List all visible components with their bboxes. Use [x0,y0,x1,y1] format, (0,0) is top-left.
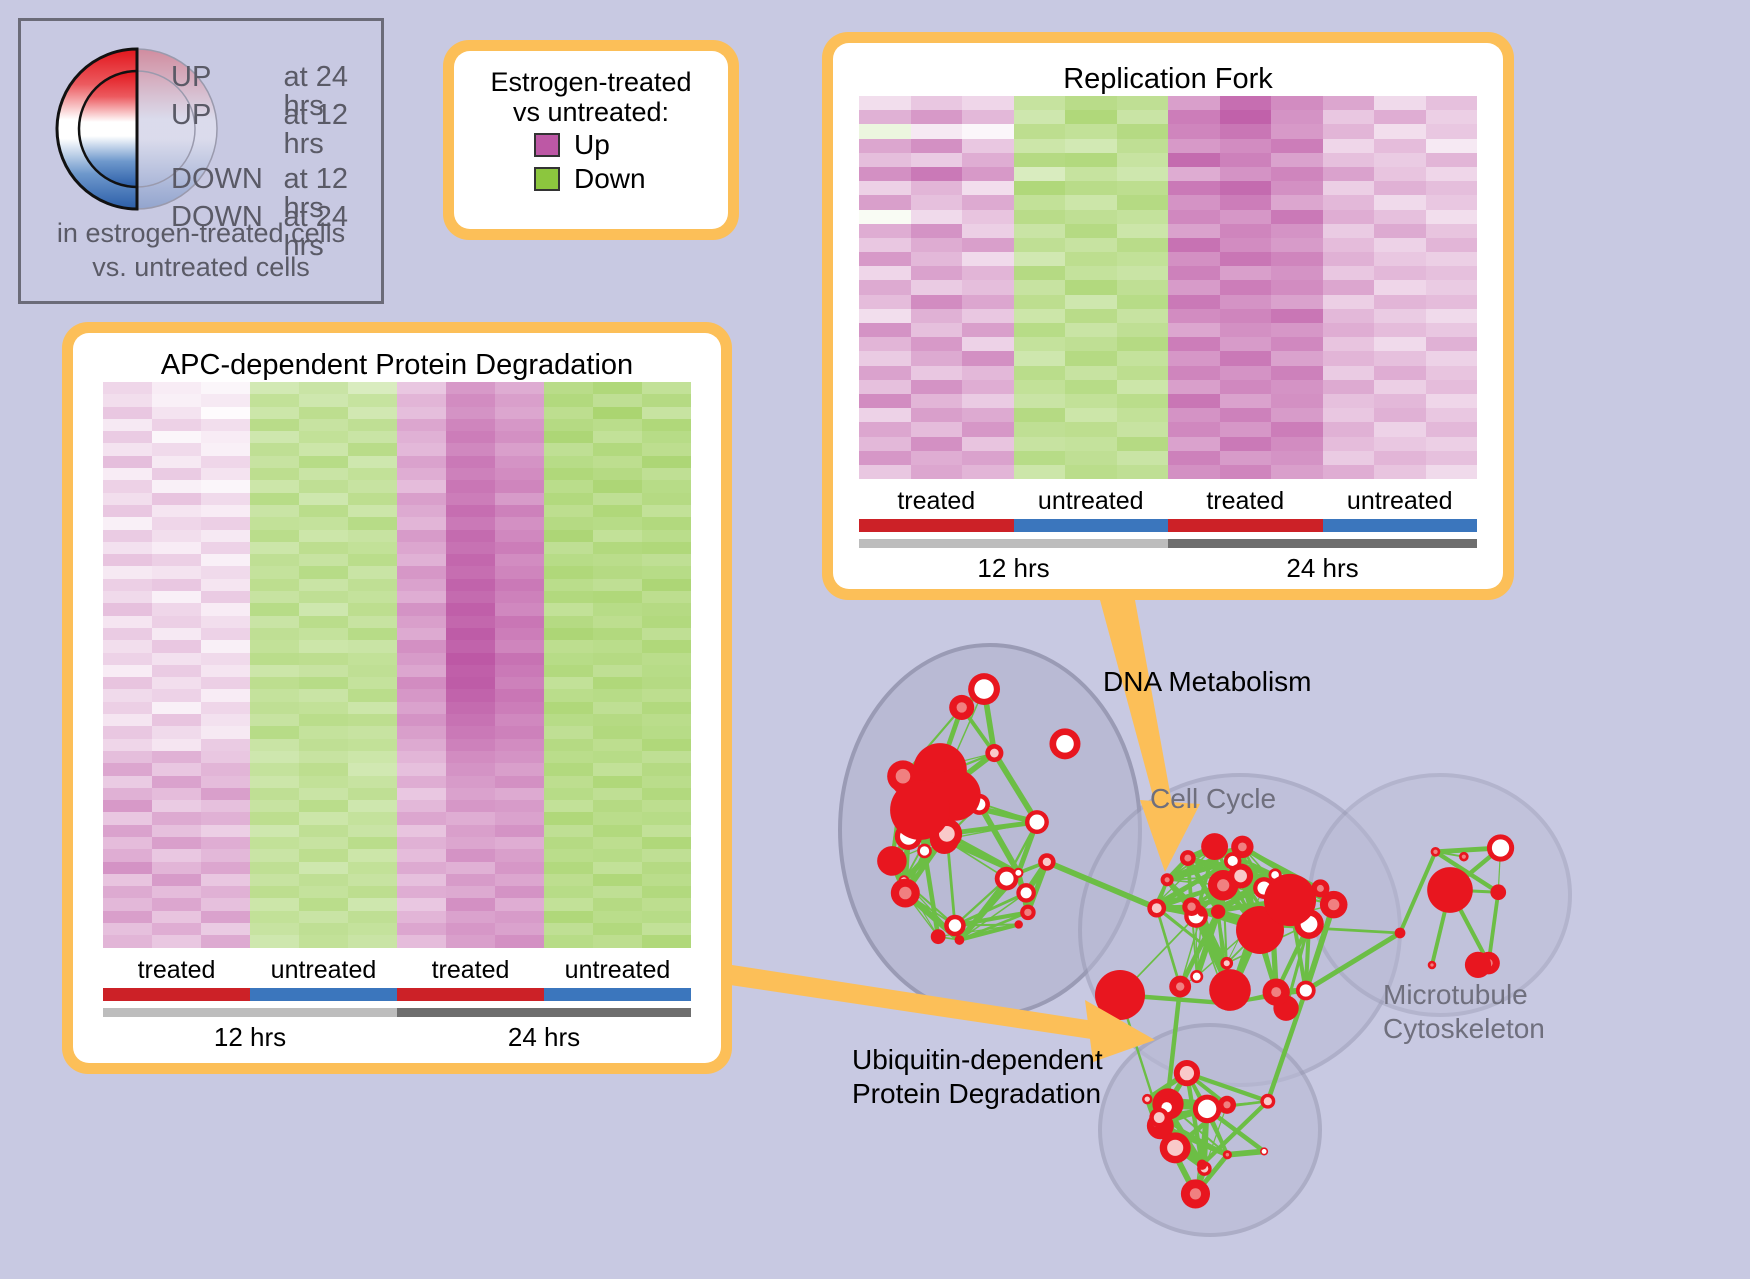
heatmap-cell [1014,238,1066,252]
heatmap-cell [1271,295,1323,309]
node-inner-core [974,679,994,699]
legend-title: Estrogen-treated vs untreated: [472,67,710,127]
heatmap-cell [642,763,691,775]
network-node[interactable] [955,935,965,945]
heatmap-cell [1220,280,1272,294]
network-node[interactable] [917,844,932,859]
heatmap-cell [911,153,963,167]
heatmap-cell [911,437,963,451]
heatmap-cell [544,923,593,935]
legend-label-up: Up [574,129,610,161]
heatmap-cell [446,739,495,751]
heatmap-cell [1220,181,1272,195]
network-node[interactable] [1160,1132,1191,1163]
heatmap-cell [397,394,446,406]
heatmap-cell [1323,437,1375,451]
heatmap-cell [1117,394,1169,408]
heatmap-cell [1374,124,1426,138]
heatmap-cell [1323,295,1375,309]
heatmap-cell [593,714,642,726]
heatmap-cell [1426,295,1478,309]
heatmap-cell [1168,252,1220,266]
heatmap-cell [1426,181,1478,195]
heatmap-cell [299,800,348,812]
heatmap-cell [348,517,397,529]
node-outer-ring [1490,884,1506,900]
heatmap-cell [962,351,1014,365]
heatmap-cell [1168,280,1220,294]
heatmap-cell [446,628,495,640]
heatmap-cell [1426,309,1478,323]
heatmap-cell [544,566,593,578]
network-node[interactable] [944,915,966,937]
heatmap-cell [446,382,495,394]
network-node[interactable] [1431,847,1441,857]
heatmap-cell [1065,337,1117,351]
node-inner-core [1187,903,1195,911]
heatmap-cell [152,825,201,837]
network-node[interactable] [1197,1160,1207,1170]
condition-label: treated [1168,487,1323,516]
heatmap-cell [446,493,495,505]
heatmap-cell [348,480,397,492]
network-node[interactable] [931,929,946,944]
network-node[interactable] [1209,969,1251,1011]
heatmap-cell [1220,110,1272,124]
node-inner-core [1190,1188,1201,1199]
network-node[interactable] [1201,833,1228,860]
heatmap-cell [201,788,250,800]
heatmap-cell [446,603,495,615]
network-node[interactable] [1038,853,1055,870]
heatmap-cell [348,862,397,874]
heatmap-cell [911,210,963,224]
heatmap-cell [544,911,593,923]
network-node[interactable] [1025,810,1049,834]
heatmap-cell [962,153,1014,167]
heatmap-cell [593,862,642,874]
heatmap-cell [446,653,495,665]
heatmap-cell [1220,266,1272,280]
heatmap-cell [544,407,593,419]
heatmap-cell [593,689,642,701]
network-node[interactable] [1428,961,1437,970]
heatmap-cell [1374,408,1426,422]
heatmap-cell [1323,195,1375,209]
network-node[interactable] [1260,1147,1268,1155]
heatmap-cell [152,702,201,714]
heatmap-cell [103,714,152,726]
heatmap-cell [544,751,593,763]
network-node[interactable] [1181,1179,1210,1208]
heatmap-cell [962,337,1014,351]
heatmap-cell [250,935,299,947]
apc-time-labels: 12 hrs 24 hrs [103,1022,691,1053]
heatmap-cell [397,763,446,775]
network-node[interactable] [1169,976,1191,998]
heatmap-cell [1374,110,1426,124]
heatmap-cell [348,874,397,886]
node-inner-core [1226,1153,1229,1156]
heatmap-cell [1014,124,1066,138]
heatmap-cell [152,407,201,419]
node-inner-core [1223,1101,1230,1108]
heatmap-cell [250,825,299,837]
network-node[interactable] [1149,1108,1169,1128]
heatmap-cell [1014,110,1066,124]
heatmap-cell [299,874,348,886]
network-node[interactable] [1296,981,1316,1001]
heatmap-cell [152,726,201,738]
network-node[interactable] [1220,957,1233,970]
heatmap-cell [593,480,642,492]
heatmap-cell [1374,238,1426,252]
heatmap-cell [397,419,446,431]
heatmap-cell [1168,366,1220,380]
heatmap-cell [642,898,691,910]
heatmap-cell [446,443,495,455]
condition-bar-segment [250,988,397,1001]
heatmap-cell [446,886,495,898]
heatmap-cell [495,726,544,738]
heatmap-cell [348,751,397,763]
heatmap-cell [962,210,1014,224]
heatmap-cell [1271,337,1323,351]
heatmap-cell [642,603,691,615]
network-node[interactable] [1395,928,1406,939]
heatmap-cell [1168,394,1220,408]
condition-bar-segment [1014,519,1169,532]
heatmap-cell [103,837,152,849]
network-node[interactable] [949,695,974,720]
heatmap-cell [348,849,397,861]
network-node[interactable] [1190,970,1203,983]
network-node[interactable] [1487,834,1514,861]
heatmap-cell [103,763,152,775]
heatmap-cell [201,665,250,677]
node-outer-ring [890,780,950,840]
heatmap-cell [201,628,250,640]
heatmap-cell [642,862,691,874]
heatmap-cell [152,739,201,751]
heatmap-cell [152,431,201,443]
heatmap-cell [201,812,250,824]
heatmap-cell [1271,437,1323,451]
heatmap-cell [1323,280,1375,294]
heatmap-cell [152,923,201,935]
heatmap-cell [152,874,201,886]
heatmap-cell [348,800,397,812]
heatmap-cell [642,591,691,603]
network-node[interactable] [1228,864,1253,889]
heatmap-cell [642,566,691,578]
heatmap-cell [495,886,544,898]
heatmap-cell [152,788,201,800]
node-inner-core [1024,909,1031,916]
heatmap-cell [446,689,495,701]
node-inner-core [1193,973,1201,981]
heatmap-cell [642,554,691,566]
heatmap-cell [103,825,152,837]
heatmap-cell [1168,167,1220,181]
network-node[interactable] [1223,1150,1232,1159]
pathway-network-diagram [790,600,1750,1279]
heatmap-cell [397,751,446,763]
heatmap-cell [250,812,299,824]
network-node[interactable] [1459,852,1469,862]
heatmap-cell [103,554,152,566]
heatmap-cell [642,677,691,689]
heatmap-cell [103,898,152,910]
network-node[interactable] [1014,920,1022,928]
heatmap-cell [299,726,348,738]
heatmap-cell [911,195,963,209]
heatmap-cell [911,266,963,280]
network-node[interactable] [985,744,1003,762]
heatmap-cell [642,714,691,726]
heatmap-cell [495,714,544,726]
heatmap-cell [250,382,299,394]
heatmap-cell [1220,124,1272,138]
heatmap-cell [1323,238,1375,252]
heatmap-cell [1323,139,1375,153]
network-node[interactable] [877,846,907,876]
heatmap-cell [103,800,152,812]
heatmap-cell [1323,96,1375,110]
heatmap-cell [299,739,348,751]
heatmap-cell [1271,309,1323,323]
heatmap-cell [544,837,593,849]
heatmap-cell [1117,238,1169,252]
heatmap-cell [642,849,691,861]
heatmap-cell [1117,465,1169,479]
network-node[interactable] [1182,897,1201,916]
heatmap-cell [1220,139,1272,153]
heatmap-cell [250,554,299,566]
node-inner-core [1000,872,1014,886]
node-inner-core [990,749,999,758]
heatmap-cell [1374,139,1426,153]
cluster-label-ubiquitin-degradation: Ubiquitin-dependent Protein Degradation [852,1043,1103,1111]
heatmap-cell [1065,408,1117,422]
network-node[interactable] [1174,1060,1200,1086]
heatmap-cell [250,591,299,603]
node-inner-core [949,919,961,931]
heatmap-cell [593,591,642,603]
heatmap-cell [103,468,152,480]
heatmap-cell [859,153,911,167]
heatmap-cell [1220,437,1272,451]
heatmap-cell [1323,422,1375,436]
heatmap-cell [544,382,593,394]
heatmap-cell [642,493,691,505]
node-inner-core [1264,1097,1272,1105]
heatmap-cell [103,862,152,874]
heatmap-cell [1168,351,1220,365]
network-node[interactable] [1490,884,1506,900]
heatmap-cell [1323,465,1375,479]
network-node[interactable] [1260,1094,1275,1109]
heatmap-cell [152,456,201,468]
network-node[interactable] [1231,836,1253,858]
heatmap-cell [593,837,642,849]
heatmap-cell [642,431,691,443]
heatmap-cell [962,252,1014,266]
network-node[interactable] [1211,904,1225,918]
heatmap-cell [250,898,299,910]
heatmap-cell [544,714,593,726]
node-inner-core [1492,839,1509,856]
heatmap-cell [859,252,911,266]
network-node[interactable] [968,673,1000,705]
heatmap-cell [642,702,691,714]
heatmap-cell [495,653,544,665]
network-node[interactable] [1020,905,1035,920]
network-node[interactable] [1427,867,1473,913]
heatmap-cell [1374,167,1426,181]
heatmap-cell [1426,195,1478,209]
heatmap-cell [1374,337,1426,351]
heatmap-cell [1117,295,1169,309]
heatmap-cell [642,911,691,923]
heatmap-cell [1065,266,1117,280]
heatmap-cell [495,776,544,788]
heatmap-cell [859,195,911,209]
network-node[interactable] [1016,883,1036,903]
condition-label: treated [103,956,250,985]
heatmap-cell [1065,465,1117,479]
heatmap-cell [348,456,397,468]
heatmap-cell [397,665,446,677]
network-node[interactable] [1147,899,1166,918]
heatmap-cell [1168,380,1220,394]
halo-ubiquitin [1100,1025,1320,1235]
heatmap-cell [1220,366,1272,380]
heatmap-cell [1271,252,1323,266]
network-node[interactable] [1049,728,1080,759]
heatmap-cell [1374,195,1426,209]
heatmap-cell [201,480,250,492]
heatmap-cell [593,554,642,566]
heatmap-cell [642,751,691,763]
node-inner-core [1300,984,1312,996]
heatmap-cell [1117,210,1169,224]
heatmap-cell [103,517,152,529]
heatmap-cell [642,935,691,947]
heatmap-cell [544,886,593,898]
heatmap-cell [495,493,544,505]
heatmap-cell [446,407,495,419]
heatmap-cell [962,139,1014,153]
key-direction: DOWN [171,165,283,194]
heatmap-cell [544,603,593,615]
heatmap-cell [397,628,446,640]
heatmap-cell [152,591,201,603]
heatmap-cell [1374,280,1426,294]
heatmap-cell [544,739,593,751]
heatmap-cell [1014,295,1066,309]
heatmap-cell [201,517,250,529]
condition-bar-segment [103,988,250,1001]
heatmap-cell [1374,394,1426,408]
heatmap-cell [593,382,642,394]
node-inner-core [1056,735,1074,753]
heatmap-cell [103,874,152,886]
heatmap-cell [495,862,544,874]
heatmap-cell [1374,309,1426,323]
network-node[interactable] [1095,970,1145,1020]
heatmap-cell [103,616,152,628]
legend-swatch-up-icon [534,133,560,157]
heatmap-cell [103,677,152,689]
network-node[interactable] [1465,952,1491,978]
heatmap-cell [544,579,593,591]
heatmap-cell [1271,96,1323,110]
heatmap-cell [1220,224,1272,238]
network-node[interactable] [1193,1095,1222,1124]
heatmap-cell [1014,437,1066,451]
heatmap-cell [299,665,348,677]
heatmap-cell [348,788,397,800]
heatmap-cell [446,726,495,738]
heatmap-cell [593,419,642,431]
heatmap-cell [1220,408,1272,422]
network-node[interactable] [1142,1094,1152,1104]
node-outer-ring [1264,874,1316,926]
heatmap-cell [446,456,495,468]
figure-canvas: UP at 24 hrs UP at 12 hrs DOWN at 12 hrs… [0,0,1750,1279]
network-node[interactable] [1161,873,1174,886]
heatmap-cell [299,837,348,849]
heatmap-cell [250,616,299,628]
heatmap-cell [250,726,299,738]
node-inner-core [1433,850,1437,854]
heatmap-cell [201,443,250,455]
network-node[interactable] [1013,868,1023,878]
heatmap-cell [348,689,397,701]
heatmap-cell [495,898,544,910]
network-node[interactable] [1263,978,1290,1005]
heatmap-cell [299,677,348,689]
heatmap-cell [446,616,495,628]
heatmap-cell [495,935,544,947]
heatmap-cell [299,825,348,837]
heatmap-cell [299,530,348,542]
heatmap-cell [152,689,201,701]
heatmap-cell [962,394,1014,408]
heatmap-cell [103,689,152,701]
heatmap-cell [544,874,593,886]
network-node[interactable] [1180,850,1196,866]
heatmap-cell [1168,153,1220,167]
network-node[interactable] [891,879,920,908]
heatmap-cell [1117,252,1169,266]
network-node[interactable] [1264,874,1316,926]
heatmap-cell [1323,366,1375,380]
heatmap-cell [1168,408,1220,422]
heatmap-cell [1426,96,1478,110]
heatmap-cell [911,351,963,365]
heatmap-cell [1271,153,1323,167]
heatmap-cell [1065,366,1117,380]
node-inner-core [1430,963,1433,966]
heatmap-cell [1374,252,1426,266]
heatmap-cell [1374,295,1426,309]
heatmap-cell [544,763,593,775]
heatmap-cell [544,394,593,406]
heatmap-cell [593,431,642,443]
network-node[interactable] [890,780,950,840]
